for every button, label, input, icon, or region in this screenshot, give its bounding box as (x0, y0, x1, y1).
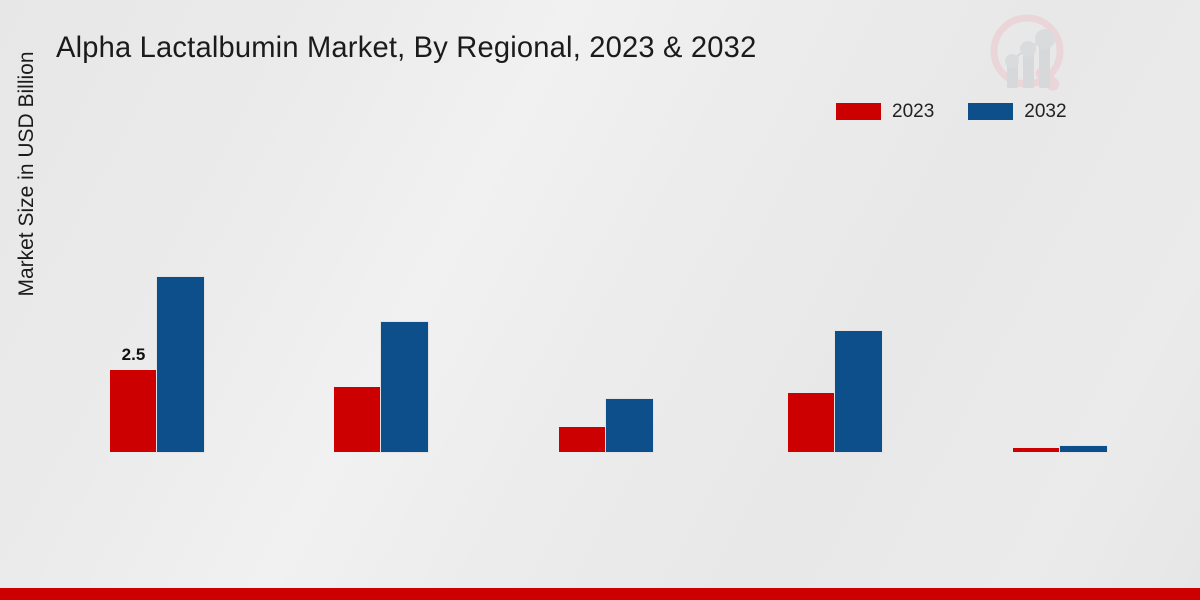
bar-south-america-2032[interactable] (606, 399, 653, 452)
bar-middle-east-and-africa-2032[interactable] (1060, 446, 1107, 452)
chart-figure: Alpha Lactalbumin Market, By Regional, 2… (0, 0, 1200, 600)
legend-item-2032[interactable]: 2032 (968, 102, 1066, 121)
legend-label-2032: 2032 (1024, 102, 1066, 121)
y-axis-title: Market Size in USD Billion (15, 9, 39, 339)
bar-group-europe (334, 140, 428, 452)
bar-group-south-america (559, 140, 653, 452)
bar-asia-pacific-2023[interactable] (788, 393, 835, 452)
bar-north-america-2023[interactable]: 2.5 (110, 370, 157, 452)
legend-swatch-2023 (836, 103, 881, 120)
bar-europe-2032[interactable] (381, 322, 428, 452)
bar-asia-pacific-2032[interactable] (835, 331, 882, 452)
bar-north-america-2032[interactable] (157, 277, 204, 452)
watermark-logo-icon (984, 8, 1080, 104)
legend-item-2023[interactable]: 2023 (836, 102, 934, 121)
plot-area: 2.5 NORTH AMERICA EUROPE SOUTH AMERICA (46, 140, 1200, 452)
chart-title: Alpha Lactalbumin Market, By Regional, 2… (56, 31, 756, 65)
bar-value-north-america-2023: 2.5 (122, 345, 146, 365)
bar-group-middle-east-and-africa (1013, 140, 1107, 452)
bar-europe-2023[interactable] (334, 387, 381, 452)
bar-group-north-america: 2.5 (110, 140, 204, 452)
bar-middle-east-and-africa-2023[interactable] (1013, 448, 1060, 452)
legend-label-2023: 2023 (892, 102, 934, 121)
footer-accent-bar (0, 588, 1200, 600)
bar-south-america-2023[interactable] (559, 427, 606, 452)
chart-legend: 2023 2032 (836, 102, 1067, 121)
bar-group-asia-pacific (788, 140, 882, 452)
legend-swatch-2032 (968, 103, 1013, 120)
